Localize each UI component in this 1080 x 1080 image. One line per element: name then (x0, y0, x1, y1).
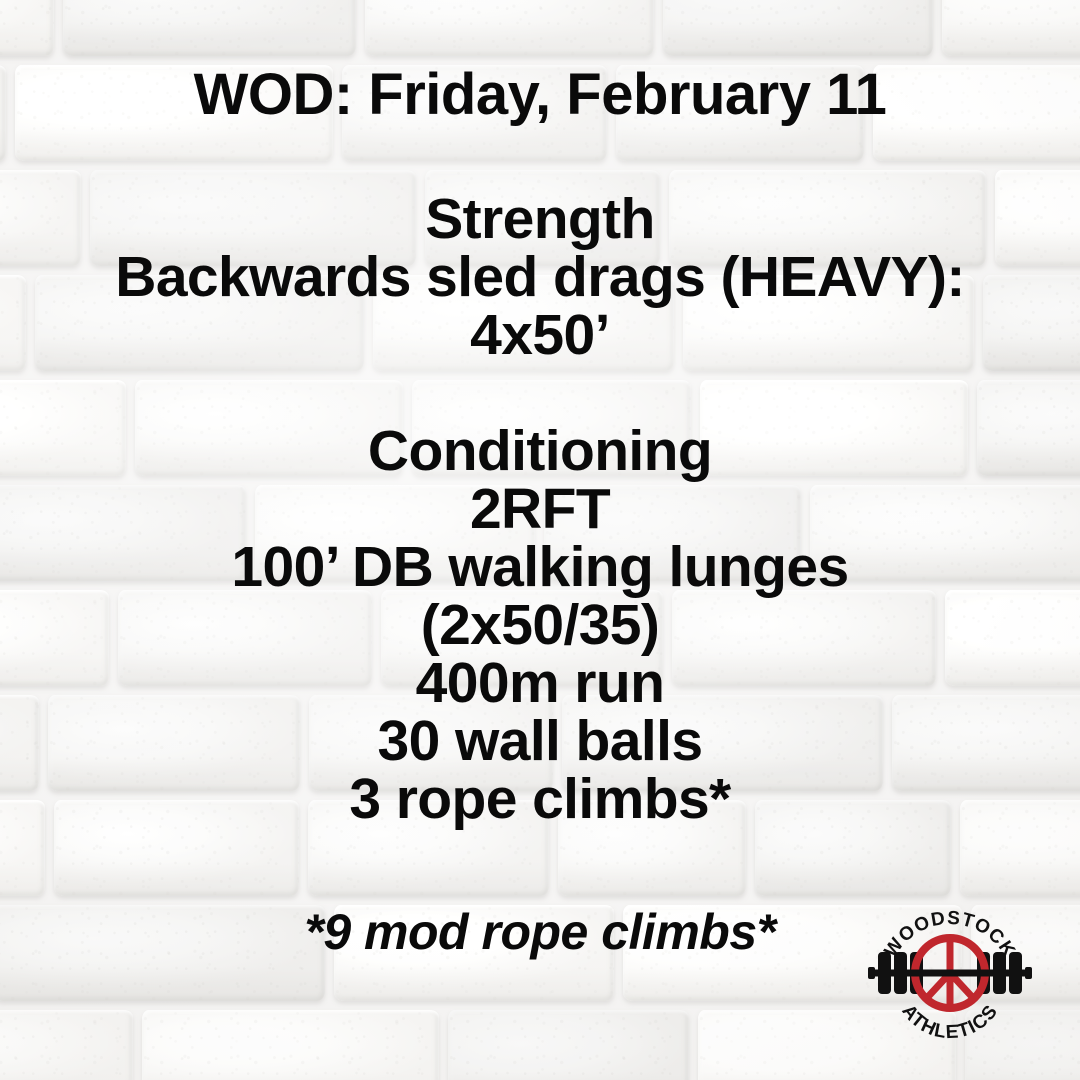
workout-line: 30 wall balls (0, 712, 1080, 770)
workout-line: 2RFT (0, 480, 1080, 538)
workout-list: StrengthBackwards sled drags (HEAVY):4x5… (0, 190, 1080, 828)
workout-line: (2x50/35) (0, 596, 1080, 654)
workout-line: Backwards sled drags (HEAVY): (0, 248, 1080, 306)
page-title: WOD: Friday, February 11 (0, 66, 1080, 124)
workout-line: 4x50’ (0, 306, 1080, 364)
workout-line: 3 rope climbs* (0, 770, 1080, 828)
workout-line-spacer (0, 364, 1080, 422)
workout-line: Strength (0, 190, 1080, 248)
workout-line: 100’ DB walking lunges (0, 538, 1080, 596)
barbell-bar-overlay (868, 970, 1032, 977)
workout-line: 400m run (0, 654, 1080, 712)
wod-poster: WOD: Friday, February 11 StrengthBackwar… (0, 0, 1080, 1080)
workout-line: Conditioning (0, 422, 1080, 480)
gym-logo: WOODSTOCK ATHLETICS (862, 890, 1038, 1066)
